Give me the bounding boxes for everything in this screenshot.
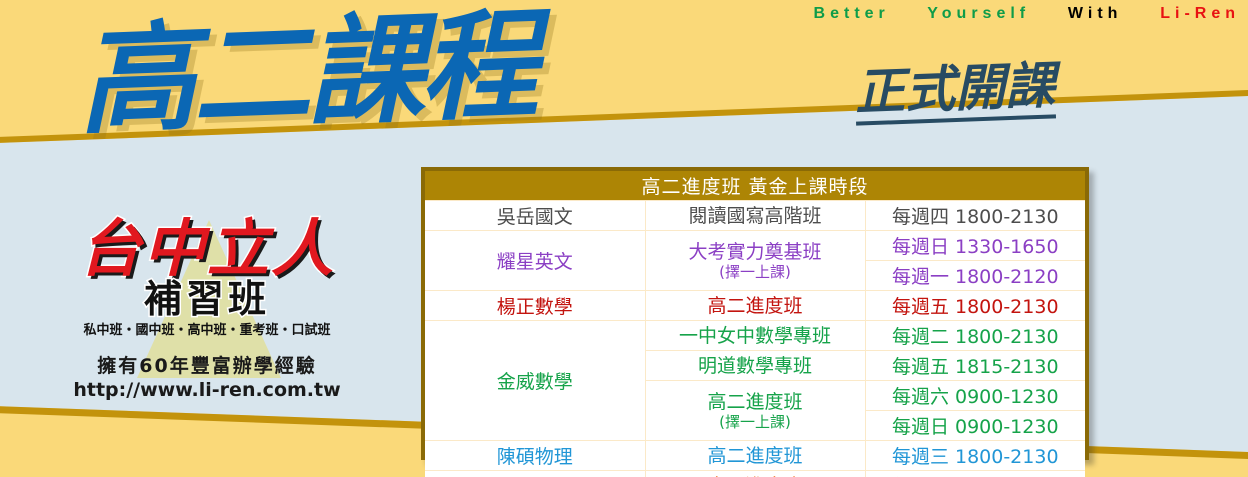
schedule-table: 高二進度班 黃金上課時段 吳岳國文閱讀國寫高階班每週四 1800-2130耀星英… [425, 171, 1085, 477]
teacher-cell: 王皓化學 [425, 471, 645, 477]
time-cell: 每週六 1800-2115 [865, 471, 1085, 477]
teacher-cell: 陳碩物理 [425, 441, 645, 471]
table-row: 王皓化學高二進度班每週六 1800-2115 [425, 471, 1085, 477]
logo-brand-name: 台中立人 [22, 216, 392, 282]
course-name: 高二進度班 [707, 445, 802, 467]
course-cell: 高二進度班 [645, 291, 865, 321]
time-cell: 每週五 1800-2130 [865, 291, 1085, 321]
tagline-word-better: Better [814, 5, 890, 22]
course-name: 高二進度班 [707, 295, 802, 317]
time-cell: 每週四 1800-2130 [865, 201, 1085, 231]
tagline-word-with: With [1068, 5, 1123, 22]
time-cell: 每週六 0900-1230 [865, 381, 1085, 411]
logo: 台中立人 補習班 私中班・國中班・高中班・重考班・口試班 擁有60年豐富辦學經驗… [22, 216, 392, 426]
table-row: 耀星英文大考實力奠基班(擇一上課)每週日 1330-1650 [425, 231, 1085, 261]
course-name: 一中女中數學專班 [679, 325, 831, 347]
page-title: 高二課程 [76, 6, 536, 141]
schedule-table-container: 高二進度班 黃金上課時段 吳岳國文閱讀國寫高階班每週四 1800-2130耀星英… [421, 167, 1089, 460]
poster-canvas: Better Yourself With Li-Ren 高二課程 正式開課 台中… [0, 0, 1248, 477]
teacher-cell: 楊正數學 [425, 291, 645, 321]
logo-brand-subtitle: 補習班 [22, 278, 392, 320]
tagline-word-yourself: Yourself [927, 5, 1030, 22]
time-cell: 每週五 1815-2130 [865, 351, 1085, 381]
logo-experience-text: 擁有60年豐富辦學經驗 [22, 354, 392, 378]
time-cell: 每週三 1800-2130 [865, 441, 1085, 471]
course-cell: 高二進度班 [645, 471, 865, 477]
time-cell: 每週一 1800-2120 [865, 261, 1085, 291]
course-cell: 一中女中數學專班 [645, 321, 865, 351]
course-name: 大考實力奠基班 [688, 241, 821, 263]
table-header-row: 高二進度班 黃金上課時段 [425, 171, 1085, 201]
time-cell: 每週日 1330-1650 [865, 231, 1085, 261]
course-cell: 閱讀國寫高階班 [645, 201, 865, 231]
course-name: 閱讀國寫高階班 [688, 205, 821, 227]
course-cell: 高二進度班(擇一上課) [645, 381, 865, 441]
time-cell: 每週二 1800-2130 [865, 321, 1085, 351]
table-row: 陳碩物理高二進度班每週三 1800-2130 [425, 441, 1085, 471]
table-row: 楊正數學高二進度班每週五 1800-2130 [425, 291, 1085, 321]
course-note: (擇一上課) [646, 263, 865, 281]
course-cell: 明道數學專班 [645, 351, 865, 381]
teacher-cell: 金威數學 [425, 321, 645, 441]
logo-website-url[interactable]: http://www.li-ren.com.tw [22, 378, 392, 402]
course-name: 明道數學專班 [698, 355, 812, 377]
table-row: 金威數學一中女中數學專班每週二 1800-2130 [425, 321, 1085, 351]
tagline-word-liren: Li-Ren [1160, 5, 1240, 22]
table-row: 吳岳國文閱讀國寫高階班每週四 1800-2130 [425, 201, 1085, 231]
course-cell: 大考實力奠基班(擇一上課) [645, 231, 865, 291]
schedule-header-title: 高二進度班 黃金上課時段 [425, 171, 1085, 201]
tagline: Better Yourself With Li-Ren [640, 2, 1240, 26]
course-cell: 高二進度班 [645, 441, 865, 471]
logo-class-categories: 私中班・國中班・高中班・重考班・口試班 [22, 322, 392, 340]
time-cell: 每週日 0900-1230 [865, 411, 1085, 441]
teacher-cell: 耀星英文 [425, 231, 645, 291]
schedule-table-body: 吳岳國文閱讀國寫高階班每週四 1800-2130耀星英文大考實力奠基班(擇一上課… [425, 201, 1085, 477]
course-name: 高二進度班 [707, 391, 802, 413]
course-note: (擇一上課) [646, 413, 865, 431]
teacher-cell: 吳岳國文 [425, 201, 645, 231]
status-badge: 正式開課 [854, 58, 1056, 125]
